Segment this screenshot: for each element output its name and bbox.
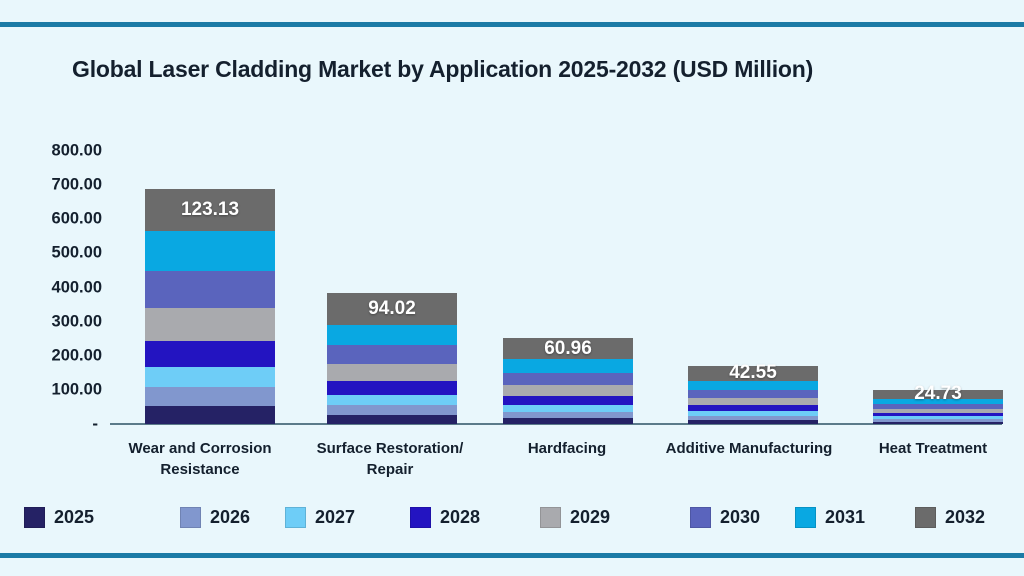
bar-value-label: 94.02 [327, 298, 457, 320]
bar-value-label: 60.96 [503, 338, 633, 360]
bar-segment[interactable] [327, 405, 457, 415]
stacked-bar[interactable]: 24.73 [873, 390, 1003, 424]
chart-legend: 20252026202720282029203020312032 [0, 503, 1024, 537]
bar-segment[interactable] [503, 418, 633, 424]
bar-segment[interactable]: 60.96 [503, 338, 633, 359]
bar-segment[interactable] [873, 422, 1003, 424]
legend-swatch-icon [795, 507, 816, 528]
legend-item-2032[interactable]: 2032 [915, 503, 985, 531]
bar-segment[interactable] [688, 390, 818, 398]
legend-label: 2027 [315, 507, 355, 528]
y-axis-tick-label: 500.00 [52, 244, 102, 263]
bar-segment[interactable]: 42.55 [688, 366, 818, 381]
bar-segment[interactable]: 123.13 [145, 189, 275, 231]
legend-item-2028[interactable]: 2028 [410, 503, 480, 531]
y-axis-tick-label: 300.00 [52, 312, 102, 331]
legend-swatch-icon [540, 507, 561, 528]
stacked-bar[interactable]: 123.13 [145, 189, 275, 424]
legend-item-2025[interactable]: 2025 [24, 503, 94, 531]
y-axis-tick-label: 800.00 [52, 142, 102, 161]
legend-label: 2030 [720, 507, 760, 528]
bar-group: 123.13 [145, 151, 275, 424]
bar-segment[interactable] [327, 415, 457, 424]
bar-group: 94.02 [327, 151, 457, 424]
y-axis-tick-label: 700.00 [52, 176, 102, 195]
y-axis-tick-label: 100.00 [52, 380, 102, 399]
chart-title: Global Laser Cladding Market by Applicat… [72, 56, 813, 83]
legend-swatch-icon [410, 507, 431, 528]
bar-group: 42.55 [688, 151, 818, 424]
bar-segment[interactable] [145, 341, 275, 367]
legend-swatch-icon [690, 507, 711, 528]
bar-segment[interactable] [145, 367, 275, 387]
bar-group: 24.73 [873, 151, 1003, 424]
bar-segment[interactable] [688, 411, 818, 416]
x-axis-category-label: Heat Treatment [823, 438, 1024, 459]
bar-segment[interactable] [503, 373, 633, 385]
bar-segment[interactable] [873, 419, 1003, 422]
bar-group: 60.96 [503, 151, 633, 424]
legend-swatch-icon [180, 507, 201, 528]
y-axis-tick-label: 600.00 [52, 210, 102, 229]
y-axis-tick-label: 400.00 [52, 278, 102, 297]
bottom-divider-rule [0, 553, 1024, 558]
legend-swatch-icon [285, 507, 306, 528]
top-divider-rule [0, 22, 1024, 27]
legend-label: 2026 [210, 507, 250, 528]
legend-label: 2032 [945, 507, 985, 528]
stacked-bar[interactable]: 60.96 [503, 338, 633, 424]
bar-segment[interactable] [145, 271, 275, 308]
bar-segment[interactable] [873, 413, 1003, 416]
legend-label: 2029 [570, 507, 610, 528]
legend-swatch-icon [915, 507, 936, 528]
bar-segment[interactable] [327, 395, 457, 406]
bar-segment[interactable] [688, 398, 818, 406]
y-axis-tick-label: - [92, 414, 98, 434]
bar-segment[interactable]: 24.73 [873, 390, 1003, 398]
legend-label: 2025 [54, 507, 94, 528]
bar-segment[interactable] [688, 405, 818, 411]
bar-value-label: 24.73 [873, 383, 1003, 405]
bar-segment[interactable] [145, 406, 275, 424]
legend-item-2026[interactable]: 2026 [180, 503, 250, 531]
y-axis: 800.00700.00600.00500.00400.00300.00200.… [0, 141, 112, 434]
bar-segment[interactable] [503, 405, 633, 412]
legend-label: 2031 [825, 507, 865, 528]
legend-item-2031[interactable]: 2031 [795, 503, 865, 531]
legend-label: 2028 [440, 507, 480, 528]
bar-segment[interactable] [503, 396, 633, 405]
stacked-bar[interactable]: 42.55 [688, 366, 818, 424]
bar-value-label: 42.55 [688, 362, 818, 384]
bar-segment[interactable] [327, 325, 457, 345]
bar-segment[interactable] [327, 381, 457, 394]
legend-item-2030[interactable]: 2030 [690, 503, 760, 531]
legend-swatch-icon [24, 507, 45, 528]
chart-page: Global Laser Cladding Market by Applicat… [0, 0, 1024, 576]
bar-segment[interactable] [503, 359, 633, 372]
bar-segment[interactable] [873, 416, 1003, 419]
bar-segment[interactable] [688, 420, 818, 424]
bar-segment[interactable] [503, 412, 633, 418]
bar-segment[interactable] [327, 345, 457, 364]
legend-item-2029[interactable]: 2029 [540, 503, 610, 531]
bar-segment[interactable] [145, 387, 275, 406]
y-axis-tick-label: 200.00 [52, 346, 102, 365]
legend-item-2027[interactable]: 2027 [285, 503, 355, 531]
bar-segment[interactable] [145, 308, 275, 341]
bar-value-label: 123.13 [145, 199, 275, 221]
bar-segment[interactable]: 94.02 [327, 293, 457, 325]
bar-segment[interactable] [873, 409, 1003, 413]
bar-segment[interactable] [327, 364, 457, 381]
bar-segment[interactable] [145, 231, 275, 271]
x-axis-category-label: Wear and Corrosion Resistance [105, 438, 295, 481]
bar-segment[interactable] [688, 416, 818, 420]
bar-segment[interactable] [503, 385, 633, 396]
plot-area: 123.1394.0260.9642.5524.73 [118, 151, 998, 424]
stacked-bar[interactable]: 94.02 [327, 293, 457, 424]
